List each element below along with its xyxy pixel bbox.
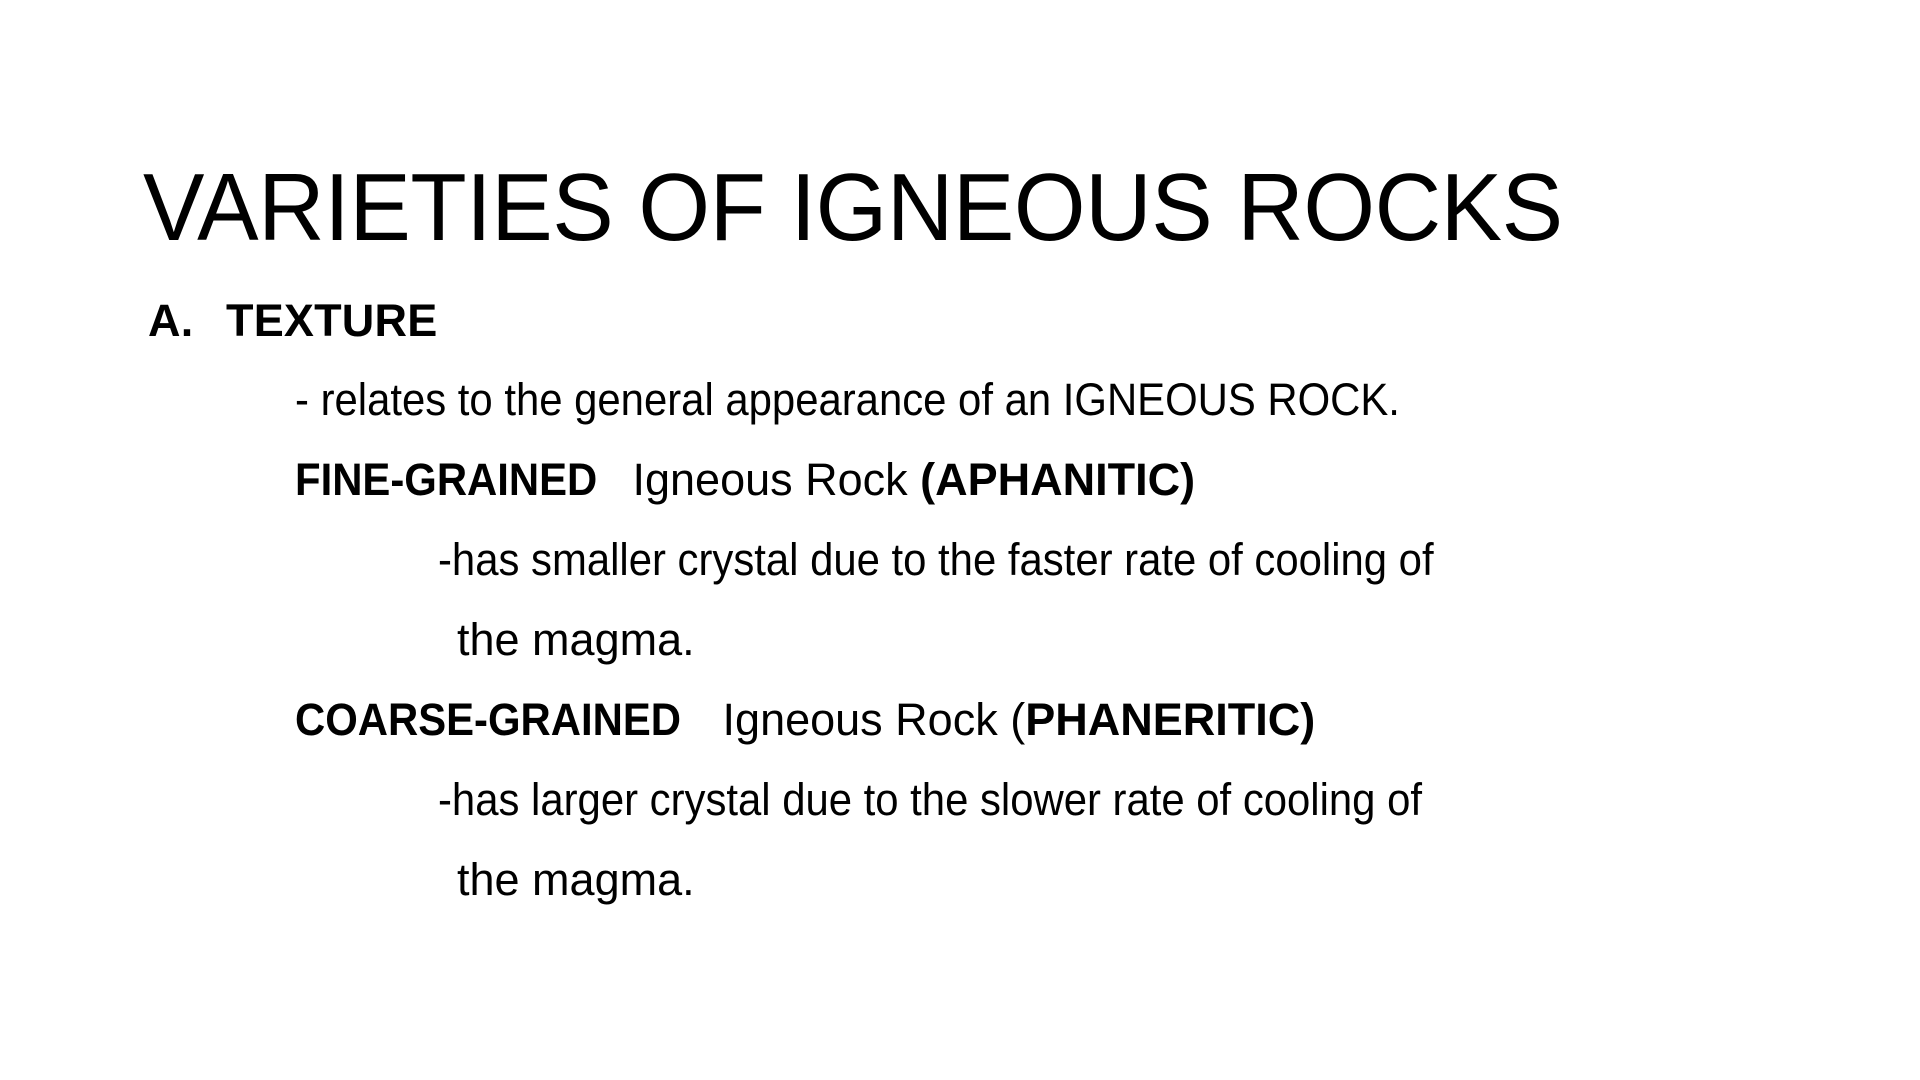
fine-grained-description-text-2: the magma.	[457, 614, 695, 665]
coarse-grained-rock-text: Igneous Rock (	[710, 694, 1025, 745]
fine-grained-description-line-1: -has smaller crystal due to the faster r…	[0, 520, 1920, 600]
phaneritic-label: PHANERITIC)	[1025, 694, 1315, 745]
slide-canvas: VARIETIES OF IGNEOUS ROCKS A.TEXTURE - r…	[0, 0, 1920, 1080]
coarse-grained-description-line-2: the magma.	[0, 840, 1920, 920]
coarse-grained-label: COARSE-GRAINED	[295, 680, 681, 760]
section-heading-label: TEXTURE	[226, 295, 437, 346]
fine-grained-description-text-1: -has smaller crystal due to the faster r…	[438, 520, 1434, 600]
fine-grained-description-line-2: the magma.	[0, 600, 1920, 680]
section-heading-texture: A.TEXTURE	[0, 282, 1920, 360]
fine-grained-label: FINE-GRAINED	[295, 440, 597, 520]
page-title: VARIETIES OF IGNEOUS ROCKS	[143, 160, 1679, 256]
fine-grained-title-line: FINE-GRAINED Igneous Rock (APHANITIC)	[0, 440, 1920, 520]
fine-grained-rock-text: Igneous Rock	[620, 454, 920, 505]
texture-definition-line: - relates to the general appearance of a…	[0, 360, 1920, 440]
coarse-grained-description-text-2: the magma.	[457, 854, 695, 905]
coarse-grained-description-line-1: -has larger crystal due to the slower ra…	[0, 760, 1920, 840]
coarse-grained-title-line: COARSE-GRAINED Igneous Rock (PHANERITIC)	[0, 680, 1920, 760]
slide-body: A.TEXTURE - relates to the general appea…	[0, 282, 1920, 920]
section-marker: A.	[148, 282, 226, 360]
aphanitic-label: (APHANITIC)	[920, 454, 1195, 505]
coarse-grained-description-text-1: -has larger crystal due to the slower ra…	[438, 760, 1422, 840]
texture-definition-text: - relates to the general appearance of a…	[295, 360, 1400, 440]
